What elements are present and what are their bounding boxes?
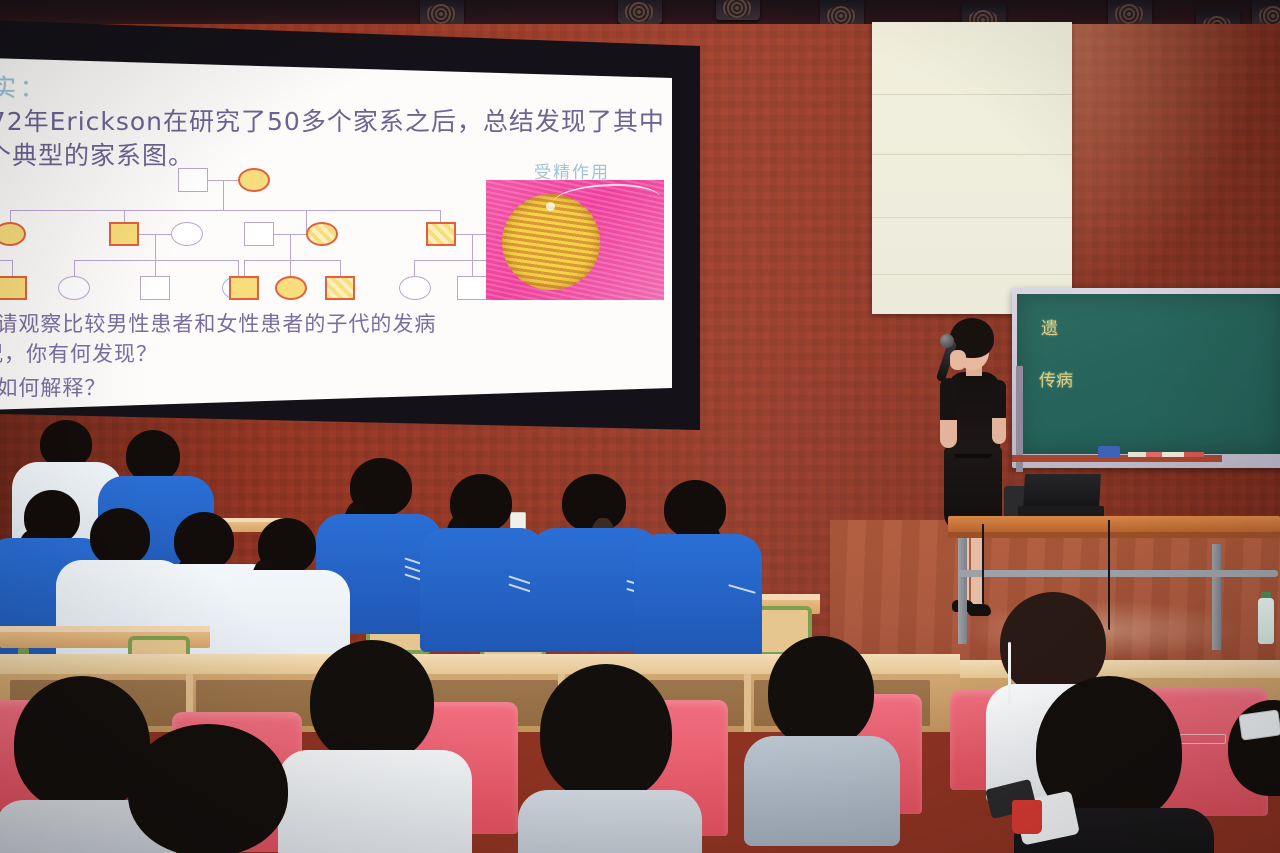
student-head — [126, 430, 180, 482]
slide-line-2: 一个典型的家系图。 — [0, 136, 194, 172]
pedigree-symbol — [171, 222, 203, 246]
chalkboard-surface[interactable]: 遗 传病 — [1017, 294, 1280, 454]
teacher-shoe — [968, 604, 991, 616]
teacher-arm-right — [992, 380, 1006, 444]
observer-head — [768, 636, 874, 748]
microphone-head-icon — [940, 334, 954, 348]
table-leg — [1212, 544, 1221, 650]
presenter-table-top — [948, 516, 1280, 532]
student-head — [90, 508, 150, 566]
sperm-tail-icon — [552, 184, 660, 218]
cable — [982, 524, 984, 604]
student-uniform — [634, 534, 762, 658]
observer-body — [278, 750, 472, 853]
table-rail — [958, 570, 1278, 577]
red-cup-icon[interactable] — [1012, 800, 1042, 834]
student-desk-edge — [0, 626, 210, 632]
student-head — [40, 420, 92, 468]
pedigree-symbol-affected — [275, 276, 307, 300]
pedigree-symbol — [140, 276, 170, 300]
eraser-icon[interactable] — [1098, 446, 1120, 458]
cable — [1108, 520, 1110, 630]
presenter-table-edge — [948, 532, 1280, 538]
stage-light-icon — [1108, 0, 1152, 26]
slide-question-3: 3：如何解释？ — [0, 372, 106, 402]
chalk-sticks-icon[interactable] — [1128, 452, 1204, 457]
pedigree-symbol-affected — [238, 168, 270, 192]
pedigree-symbol-affected — [325, 276, 355, 300]
teacher-arm-left — [940, 378, 957, 448]
water-bottle-icon[interactable] — [1258, 598, 1274, 644]
observer-body — [744, 736, 900, 846]
slide-heading: 事实： — [0, 68, 48, 103]
pedigree-symbol-affected — [426, 222, 456, 246]
presentation-slide: 事实： 1972年Erickson在研究了50多个家系之后，总结发现了其中 一个… — [0, 50, 676, 410]
observer-body — [518, 790, 702, 853]
chalk-text-line-2: 传病 — [1039, 366, 1073, 391]
stage-light-icon — [420, 0, 464, 26]
observer-head — [310, 640, 434, 764]
pedigree-symbol-affected — [0, 276, 27, 300]
shelf-divider — [744, 674, 751, 732]
earphone-cable-icon — [1008, 642, 1011, 704]
teacher-hand — [950, 350, 966, 370]
observer-head — [540, 664, 672, 802]
pedigree-symbol — [178, 168, 208, 192]
pedigree-symbol-affected — [109, 222, 139, 246]
pedigree-symbol — [244, 222, 274, 246]
stage-light-icon — [716, 0, 760, 20]
slide-question-2: 2：请观察比较男性患者和女性患者的子代的发病 — [0, 308, 436, 338]
projection-screen[interactable]: 事实： 1972年Erickson在研究了50多个家系之后，总结发现了其中 一个… — [0, 20, 700, 430]
pedigree-symbol — [58, 276, 90, 300]
pedigree-symbol-affected — [306, 222, 338, 246]
chalk-text-line-1: 遗 — [1041, 314, 1058, 339]
classroom-photo: 事实： 1972年Erickson在研究了50多个家系之后，总结发现了其中 一个… — [0, 0, 1280, 853]
observer-head — [128, 724, 288, 853]
pedigree-symbol — [457, 276, 487, 300]
slide-question-2-cont: 情况，你有何发现？ — [0, 338, 158, 368]
chalkboard[interactable]: 遗 传病 — [1012, 288, 1280, 468]
laptop-screen[interactable] — [1023, 474, 1101, 510]
pedigree-symbol — [399, 276, 431, 300]
smartphone-icon[interactable] — [1238, 709, 1280, 740]
slide-line-1: 1972年Erickson在研究了50多个家系之后，总结发现了其中 — [0, 102, 665, 138]
pedigree-chart — [0, 168, 486, 308]
teacher-leg — [971, 526, 982, 608]
pedigree-symbol-affected — [0, 222, 26, 246]
table-leg — [958, 538, 967, 644]
fertilization-micrograph — [486, 180, 664, 300]
pedigree-symbol-affected — [229, 276, 259, 300]
stage-light-icon — [618, 0, 662, 24]
seat-label — [1180, 734, 1226, 744]
acoustic-wall-panel — [872, 22, 1072, 314]
